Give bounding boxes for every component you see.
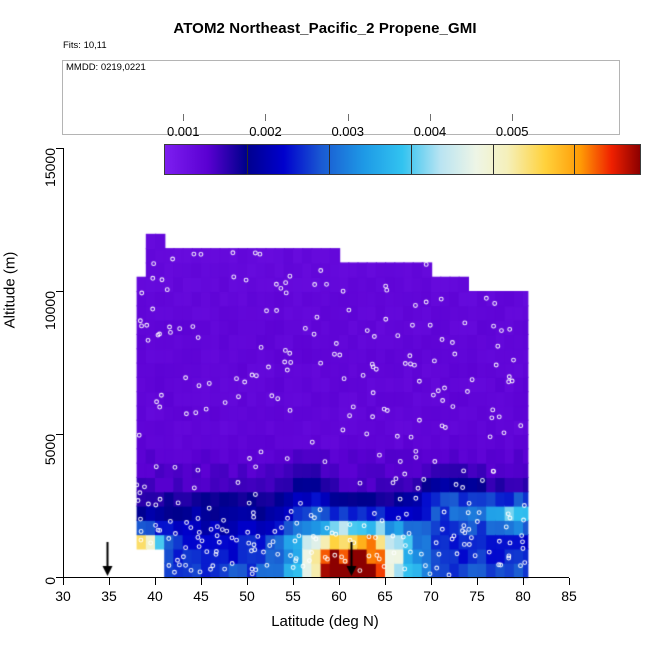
- x-axis-tick-label: 40: [147, 588, 163, 604]
- x-axis-tick-label: 75: [469, 588, 485, 604]
- y-axis-tick-label: 5000: [42, 434, 58, 465]
- y-axis-tick-label: 0: [42, 577, 58, 585]
- x-axis-tick: [569, 578, 570, 585]
- x-axis-tick-label: 55: [285, 588, 301, 604]
- x-axis-tick: [385, 578, 386, 585]
- x-axis-tick: [63, 578, 64, 585]
- x-axis-tick-label: 85: [561, 588, 577, 604]
- x-axis-tick: [523, 578, 524, 585]
- x-axis-tick-label: 80: [515, 588, 531, 604]
- x-axis-label: Latitude (deg N): [0, 613, 650, 630]
- figure-root: ATOM2 Northeast_Pacific_2 Propene_GMI Fi…: [0, 0, 650, 650]
- x-axis-tick-label: 35: [101, 588, 117, 604]
- x-axis-tick: [339, 578, 340, 585]
- y-axis-line: [63, 148, 64, 578]
- x-axis-tick-label: 50: [239, 588, 255, 604]
- x-axis-tick-label: 70: [423, 588, 439, 604]
- y-axis-tick-label: 10000: [42, 291, 58, 330]
- y-axis-label: Altitude (m): [2, 252, 19, 329]
- x-axis-line: [63, 577, 569, 578]
- x-axis-tick-label: 30: [55, 588, 71, 604]
- x-axis-tick-label: 45: [193, 588, 209, 604]
- heatmap-canvas[interactable]: [0, 0, 650, 650]
- x-axis-tick: [431, 578, 432, 585]
- x-axis-tick: [201, 578, 202, 585]
- x-axis-tick-label: 60: [331, 588, 347, 604]
- x-axis-tick: [477, 578, 478, 585]
- x-axis-tick: [293, 578, 294, 585]
- y-axis-tick-label: 15000: [42, 148, 58, 187]
- x-axis-tick: [247, 578, 248, 585]
- x-axis-tick: [155, 578, 156, 585]
- x-axis-tick-label: 65: [377, 588, 393, 604]
- x-axis-tick: [109, 578, 110, 585]
